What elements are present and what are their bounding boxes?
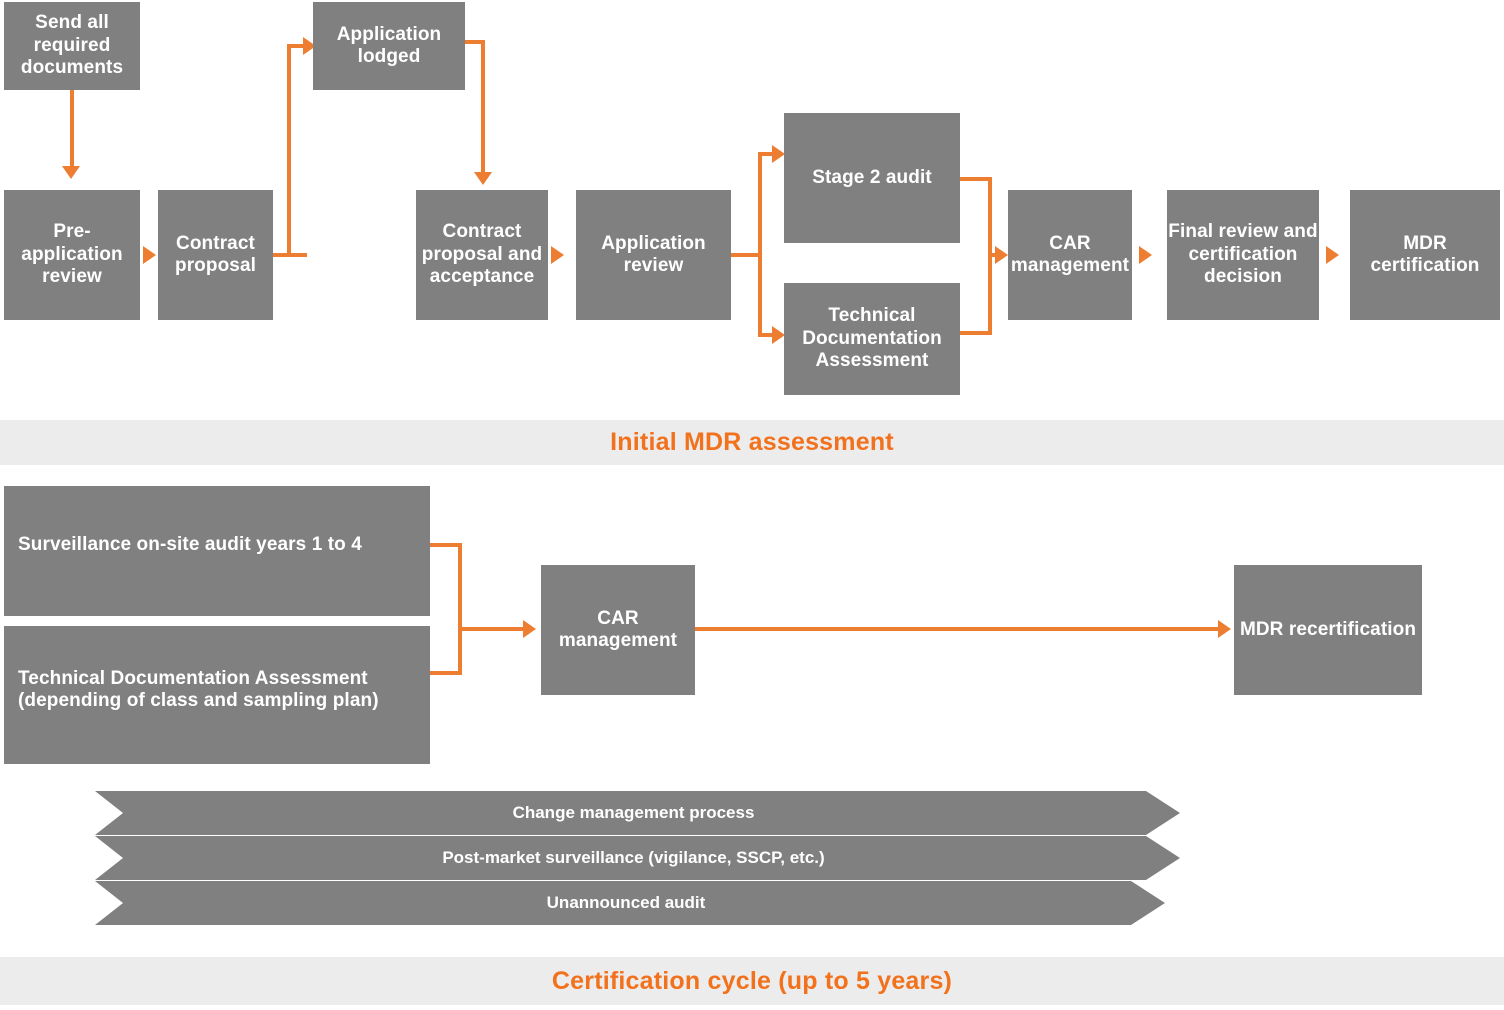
connector-cycle-merge-vertical bbox=[458, 543, 462, 675]
banner-label: Initial MDR assessment bbox=[610, 428, 894, 457]
arrowhead-cycle-merge-to-car bbox=[523, 620, 536, 638]
arrowhead-send-to-preapp bbox=[62, 166, 80, 179]
ribbon-label: Change management process bbox=[513, 803, 755, 823]
node-application-review[interactable]: Application review bbox=[576, 190, 731, 320]
diagram-canvas: Send all required documents Pre-applicat… bbox=[0, 0, 1504, 1010]
node-send-documents[interactable]: Send all required documents bbox=[4, 2, 140, 90]
node-mdr-certification[interactable]: MDR certification bbox=[1350, 190, 1500, 320]
banner-initial-mdr-assessment: Initial MDR assessment bbox=[0, 420, 1504, 465]
node-label-line-1: Technical Documentation Assessment bbox=[18, 668, 368, 690]
node-label: CAR management bbox=[541, 608, 695, 653]
node-label: CAR management bbox=[1008, 233, 1132, 278]
node-surveillance-audit[interactable]: Surveillance on-site audit years 1 to 4 bbox=[4, 486, 430, 616]
ribbon-label: Post-market surveillance (vigilance, SSC… bbox=[442, 848, 824, 868]
node-label: Final review and certification decision bbox=[1167, 221, 1319, 288]
arrowhead-lodged-to-acceptance bbox=[474, 172, 492, 185]
node-car-management-cycle[interactable]: CAR management bbox=[541, 565, 695, 695]
connector-send-to-preapp bbox=[70, 90, 74, 168]
node-technical-documentation-assessment[interactable]: Technical Documentation Assessment bbox=[784, 283, 960, 395]
node-label: Contract proposal and acceptance bbox=[416, 221, 548, 288]
arrowhead-final-to-mdr bbox=[1326, 246, 1339, 264]
connector-review-split-vertical bbox=[758, 152, 762, 337]
node-label: Surveillance on-site audit years 1 to 4 bbox=[18, 534, 362, 556]
node-stage-2-audit[interactable]: Stage 2 audit bbox=[784, 113, 960, 243]
node-label: MDR certification bbox=[1350, 233, 1500, 278]
ribbon-label: Unannounced audit bbox=[547, 893, 706, 913]
node-contract-proposal[interactable]: Contract proposal bbox=[158, 190, 273, 320]
connector-lodged-to-acceptance-v bbox=[481, 40, 485, 174]
node-label: Send all required documents bbox=[4, 12, 140, 79]
arrowhead-acceptance-to-review bbox=[551, 246, 564, 264]
arrowhead-preapp-to-contract bbox=[143, 246, 156, 264]
connector-cycle-merge-to-car bbox=[458, 627, 524, 631]
ribbon-change-management-process[interactable]: Change management process bbox=[95, 791, 1180, 835]
banner-certification-cycle: Certification cycle (up to 5 years) bbox=[0, 957, 1504, 1005]
node-label: Contract proposal bbox=[158, 233, 273, 278]
node-pre-application-review[interactable]: Pre-application review bbox=[4, 190, 140, 320]
node-application-lodged[interactable]: Application lodged bbox=[313, 2, 465, 90]
node-mdr-recertification[interactable]: MDR recertification bbox=[1234, 565, 1422, 695]
node-cycle-technical-documentation-assessment[interactable]: Technical Documentation Assessment (depe… bbox=[4, 626, 430, 764]
connector-car-to-recertification bbox=[695, 627, 1219, 631]
node-label-line-2: (depending of class and sampling plan) bbox=[18, 690, 379, 712]
node-final-review[interactable]: Final review and certification decision bbox=[1167, 190, 1319, 320]
banner-label: Certification cycle (up to 5 years) bbox=[552, 967, 952, 996]
ribbon-unannounced-audit[interactable]: Unannounced audit bbox=[95, 881, 1165, 925]
node-contract-proposal-acceptance[interactable]: Contract proposal and acceptance bbox=[416, 190, 548, 320]
node-label: Application lodged bbox=[313, 24, 465, 69]
arrowhead-car-to-recertification bbox=[1218, 620, 1231, 638]
node-label: Stage 2 audit bbox=[812, 167, 932, 189]
ribbon-post-market-surveillance[interactable]: Post-market surveillance (vigilance, SSC… bbox=[95, 836, 1180, 880]
connector-contract-to-lodged-v bbox=[287, 44, 291, 257]
node-label: MDR recertification bbox=[1240, 619, 1416, 641]
arrowhead-merge-to-car bbox=[995, 246, 1008, 264]
arrowhead-car-to-final bbox=[1139, 246, 1152, 264]
node-label: Application review bbox=[576, 233, 731, 278]
node-label: Technical Documentation Assessment bbox=[784, 305, 960, 372]
node-label: Pre-application review bbox=[4, 221, 140, 288]
node-car-management-initial[interactable]: CAR management bbox=[1008, 190, 1132, 320]
